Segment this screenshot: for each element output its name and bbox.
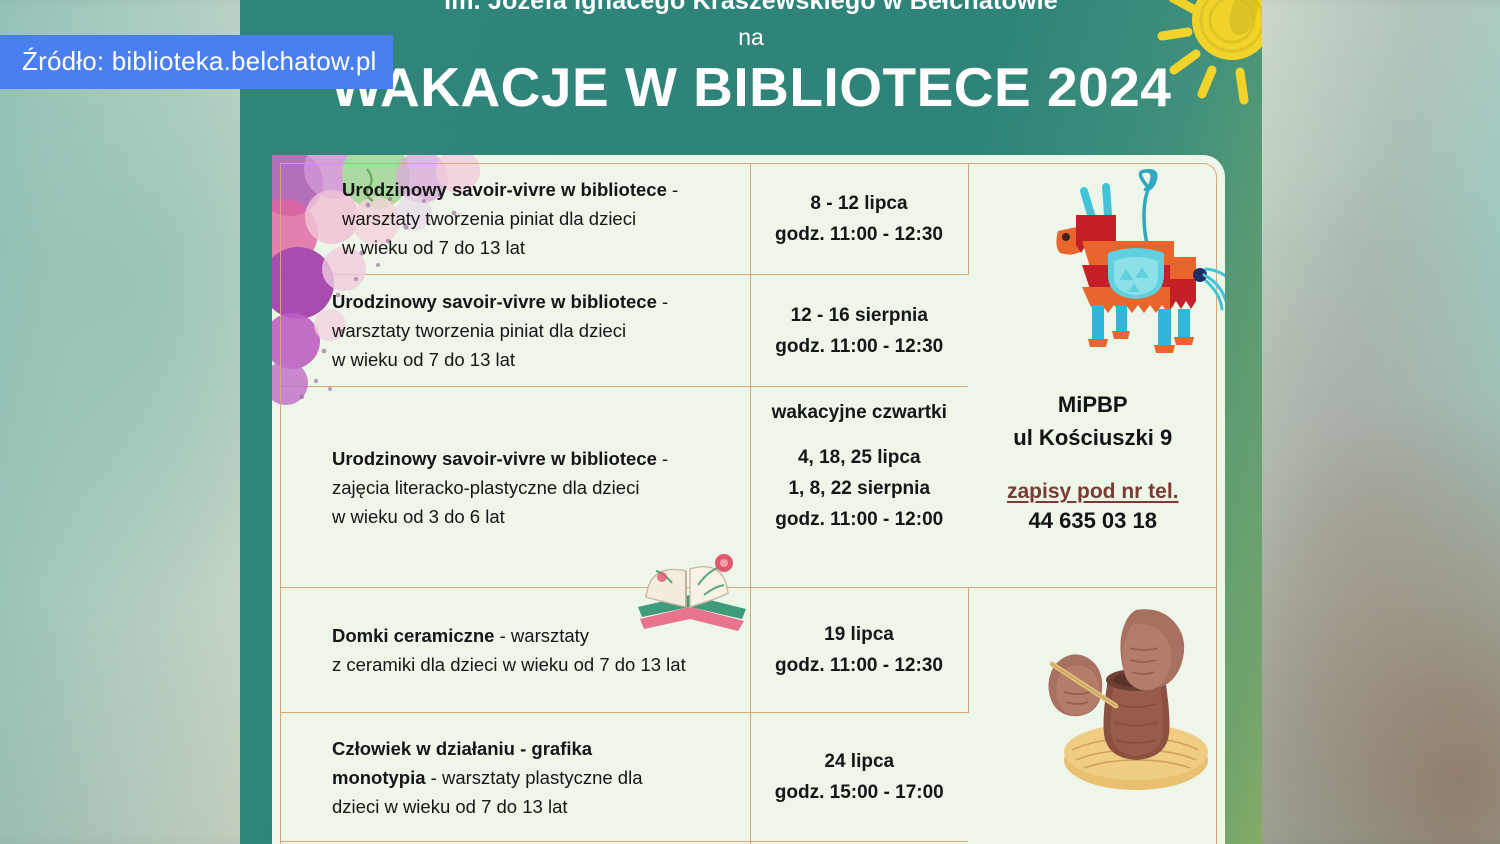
cell-date: 19 lipca godz. 11:00 - 12:30 <box>750 588 968 713</box>
sun-doodle-icon <box>1140 0 1262 118</box>
cell-date: 8 - 12 lipca godz. 11:00 - 12:30 <box>750 163 968 275</box>
dash: - <box>494 625 510 646</box>
event-date-line3: godz. 11:00 - 12:00 <box>765 504 955 535</box>
event-date-line2: godz. 11:00 - 12:30 <box>765 331 955 362</box>
event-title-2: monotypia <box>332 767 426 788</box>
dash: - <box>667 179 678 200</box>
contact-phone-label[interactable]: zapisy pod nr tel. <box>983 480 1204 504</box>
event-desc-line1: warsztaty <box>511 625 589 646</box>
event-desc-line2: w wieku od 7 do 13 lat <box>342 237 525 258</box>
dash: - <box>657 448 668 469</box>
event-date-line2: godz. 15:00 - 17:00 <box>765 777 955 808</box>
cell-description: Urodzinowy savoir-vivre w bibliotece - w… <box>280 163 750 275</box>
event-title: Urodzinowy savoir-vivre w bibliotece <box>332 291 657 312</box>
event-desc-line2: dzieci w wieku od 7 do 13 lat <box>332 796 568 817</box>
event-date-line1: 19 lipca <box>765 619 954 650</box>
event-title: Domki ceramiczne <box>332 625 494 646</box>
source-caption: Źródło: biblioteka.belchatow.pl <box>0 35 393 89</box>
event-date-header: wakacyjne czwartki <box>765 397 955 428</box>
event-desc-line2: w wieku od 7 do 13 lat <box>332 349 515 370</box>
schedule-card: Urodzinowy savoir-vivre w bibliotece - w… <box>272 155 1225 844</box>
event-desc-line2: z ceramiki dla dzieci w wieku od 7 do 13… <box>332 654 686 675</box>
event-desc-line1: zajęcia literacko-plastyczne dla dzieci <box>332 477 639 498</box>
poster-panel: im. Józefa Ignacego Kraszewskiego w Bełc… <box>240 0 1262 844</box>
cell-description: Człowiek w działaniu - grafika monotypia… <box>280 713 750 842</box>
cell-description: Urodzinowy savoir-vivre w bibliotece - w… <box>280 275 750 387</box>
event-date-line2: 1, 8, 22 sierpnia <box>765 473 955 504</box>
table-row: Domki ceramiczne - warsztaty z ceramiki … <box>280 588 1217 713</box>
event-desc-line1: warsztaty plastyczne dla <box>442 767 643 788</box>
event-title: Urodzinowy savoir-vivre w bibliotece <box>342 179 667 200</box>
contact-institution: MiPBP <box>983 388 1204 421</box>
cell-date: 12 - 16 sierpnia godz. 11:00 - 12:30 <box>750 275 968 387</box>
dash: - <box>657 291 668 312</box>
event-desc-line1: warsztaty tworzenia piniat dla dzieci <box>332 320 626 341</box>
cell-description: Urodzinowy savoir-vivre w bibliotece - z… <box>280 387 750 588</box>
cell-contact-info: MiPBP ul Kościuszki 9 zapisy pod nr tel.… <box>968 163 1217 588</box>
event-date-line1: 12 - 16 sierpnia <box>765 300 955 331</box>
event-date-line2: godz. 11:00 - 12:30 <box>765 650 954 681</box>
schedule-table: Urodzinowy savoir-vivre w bibliotece - w… <box>280 163 1217 844</box>
event-title: Człowiek w działaniu - grafika <box>332 738 592 759</box>
event-desc-line1: warsztaty tworzenia piniat dla dzieci <box>342 208 636 229</box>
screenshot-root: im. Józefa Ignacego Kraszewskiego w Bełc… <box>0 0 1500 844</box>
cell-date: wakacyjne czwartki 4, 18, 25 lipca 1, 8,… <box>750 387 968 588</box>
cell-date: 24 lipca godz. 15:00 - 17:00 <box>750 713 968 842</box>
cell-artwork-pottery <box>968 588 1217 844</box>
event-title: Urodzinowy savoir-vivre w bibliotece <box>332 448 657 469</box>
event-date-line1: 24 lipca <box>765 746 955 777</box>
event-date-line2: godz. 11:00 - 12:30 <box>765 219 954 250</box>
dash: - <box>426 767 442 788</box>
event-date-line1: 8 - 12 lipca <box>765 188 954 219</box>
event-date-line1: 4, 18, 25 lipca <box>765 442 955 473</box>
contact-street: ul Kościuszki 9 <box>983 421 1204 454</box>
cell-description: Domki ceramiczne - warsztaty z ceramiki … <box>280 588 750 713</box>
event-desc-line2: w wieku od 3 do 6 lat <box>332 506 505 527</box>
table-row: Urodzinowy savoir-vivre w bibliotece - w… <box>280 163 1217 275</box>
contact-phone-number[interactable]: 44 635 03 18 <box>983 504 1204 537</box>
